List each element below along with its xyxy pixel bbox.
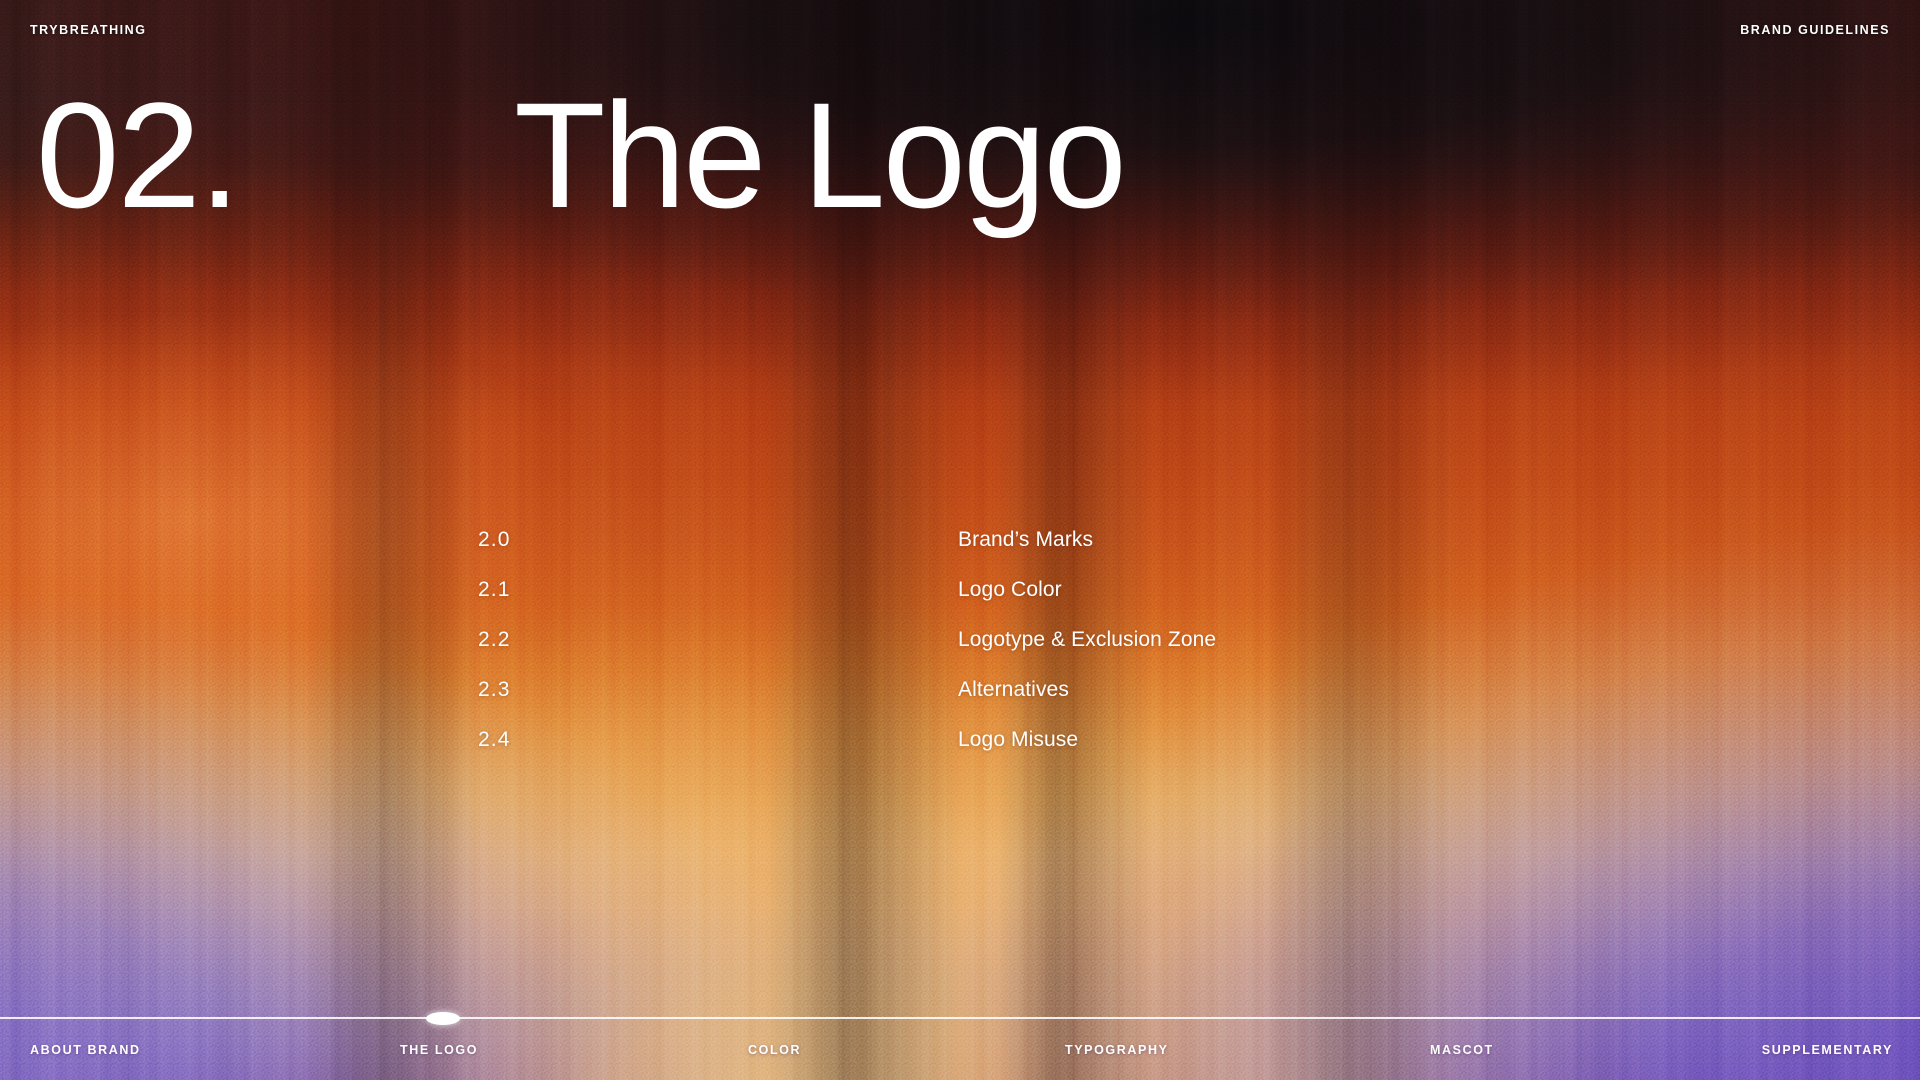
- toc-number: 2.0: [478, 528, 958, 552]
- toc-number: 2.3: [478, 678, 958, 702]
- document-label: BRAND GUIDELINES: [1740, 23, 1890, 37]
- nav-item-mascot[interactable]: MASCOT: [1430, 1043, 1494, 1057]
- table-of-contents: 2.0 Brand’s Marks 2.1 Logo Color 2.2 Log…: [478, 528, 1578, 778]
- brand-wordmark: TRYBREATHING: [30, 23, 147, 37]
- toc-item-2-3[interactable]: 2.3 Alternatives: [478, 678, 1578, 728]
- section-number: 02.: [36, 80, 514, 230]
- nav-item-color[interactable]: COLOR: [748, 1043, 801, 1057]
- header-bar: TRYBREATHING BRAND GUIDELINES: [0, 0, 1920, 60]
- section-navigation: ABOUT BRAND THE LOGO COLOR TYPOGRAPHY MA…: [0, 1019, 1920, 1080]
- nav-item-the-logo[interactable]: THE LOGO: [400, 1043, 478, 1057]
- toc-label: Logo Misuse: [958, 728, 1078, 752]
- section-title-block: 02. The Logo: [36, 80, 1124, 230]
- toc-item-2-0[interactable]: 2.0 Brand’s Marks: [478, 528, 1578, 578]
- toc-label: Logo Color: [958, 578, 1062, 602]
- slide-content: TRYBREATHING BRAND GUIDELINES 02. The Lo…: [0, 0, 1920, 1080]
- toc-label: Alternatives: [958, 678, 1069, 702]
- slide-canvas: TRYBREATHING BRAND GUIDELINES 02. The Lo…: [0, 0, 1920, 1080]
- nav-item-typography[interactable]: TYPOGRAPHY: [1065, 1043, 1169, 1057]
- toc-item-2-1[interactable]: 2.1 Logo Color: [478, 578, 1578, 628]
- nav-item-supplementary[interactable]: SUPPLEMENTARY: [1762, 1043, 1893, 1057]
- toc-item-2-4[interactable]: 2.4 Logo Misuse: [478, 728, 1578, 778]
- toc-number: 2.1: [478, 578, 958, 602]
- toc-label: Brand’s Marks: [958, 528, 1093, 552]
- toc-label: Logotype & Exclusion Zone: [958, 628, 1216, 652]
- nav-item-about-brand[interactable]: ABOUT BRAND: [30, 1043, 141, 1057]
- page-title: The Logo: [514, 80, 1124, 230]
- toc-number: 2.4: [478, 728, 958, 752]
- toc-item-2-2[interactable]: 2.2 Logotype & Exclusion Zone: [478, 628, 1578, 678]
- toc-number: 2.2: [478, 628, 958, 652]
